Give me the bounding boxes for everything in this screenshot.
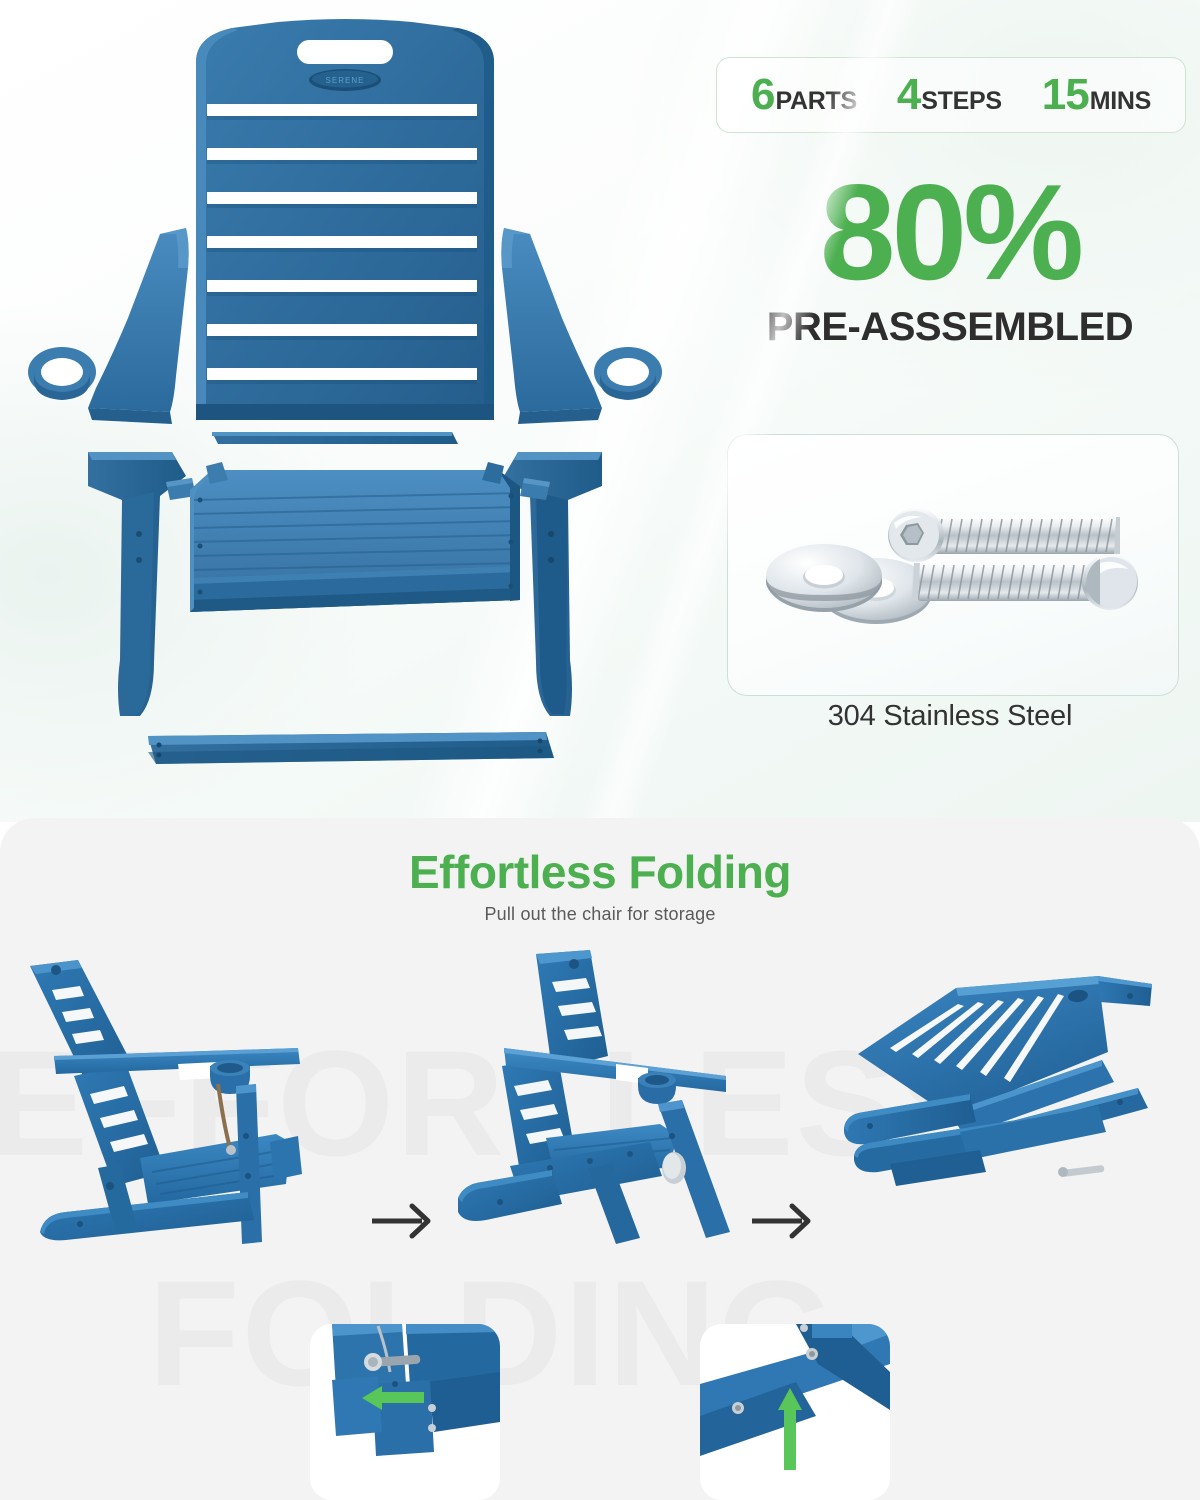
product-parts-section: SERENE <box>0 0 1200 822</box>
hardware-caption: 304 Stainless Steel <box>700 700 1200 733</box>
leg-latch-detail-svg <box>700 1324 890 1500</box>
folding-step-chair-mid-folding <box>440 936 770 1266</box>
stats-badge: 6 PARTS 4 STEPS 15 MINS <box>716 57 1186 133</box>
arrow-right-icon <box>748 1198 822 1244</box>
folding-demo-section: EFFORTLESS FOLDING Effortless Folding Pu… <box>0 818 1200 1500</box>
part-front-cross-brace <box>148 732 554 764</box>
stat-parts: 6 PARTS <box>751 73 857 117</box>
bolt-top <box>888 508 1120 562</box>
hardware-illustration <box>728 435 1179 696</box>
folding-title: Effortless Folding <box>0 845 1200 899</box>
stat-mins: 15 MINS <box>1042 73 1151 117</box>
stat-parts-unit: PARTS <box>775 89 856 114</box>
part-back-cross-brace <box>212 432 458 444</box>
part-seat-assembly <box>190 462 520 612</box>
detail-inset-hinge-pin <box>310 1324 500 1500</box>
pre-assembled-label: PRE-ASSSEMBLED <box>700 305 1200 350</box>
stat-steps-number: 4 <box>897 73 920 117</box>
folding-steps <box>0 936 1200 1266</box>
pre-assembled-block: 80% PRE-ASSSEMBLED <box>700 168 1200 350</box>
part-chair-back-panel: SERENE <box>196 19 494 420</box>
chair-mid-folding-svg <box>440 936 770 1266</box>
bolt-bottom <box>912 554 1138 610</box>
svg-text:SERENE: SERENE <box>326 76 365 85</box>
pre-assembled-percent: 80% <box>700 168 1200 297</box>
folding-step-chair-upright <box>18 936 348 1266</box>
stat-steps-unit: STEPS <box>921 89 1001 114</box>
detail-inset-leg-latch <box>700 1324 890 1500</box>
chair-upright-svg <box>18 936 348 1266</box>
stat-steps: 4 STEPS <box>897 73 1002 117</box>
stat-mins-unit: MINS <box>1090 89 1151 114</box>
washer-front <box>766 544 882 612</box>
part-left-armrest-with-cupholder <box>28 228 189 424</box>
folding-subtitle: Pull out the chair for storage <box>0 904 1200 925</box>
part-right-armrest-with-cupholder <box>501 228 662 424</box>
chair-folded-svg <box>830 936 1170 1266</box>
hinge-pin-detail-svg <box>310 1324 500 1500</box>
stat-mins-number: 15 <box>1042 73 1089 117</box>
step-arrow-1 <box>368 1198 442 1244</box>
exploded-chair-illustration: SERENE <box>0 0 690 822</box>
folding-step-chair-fully-folded <box>830 936 1170 1266</box>
exploded-chair-svg: SERENE <box>0 0 690 822</box>
step-arrow-2 <box>748 1198 822 1244</box>
stat-parts-number: 6 <box>751 73 774 117</box>
hardware-card <box>727 434 1179 696</box>
product-highlights-column: 6 PARTS 4 STEPS 15 MINS 80% PRE-ASSSEMBL… <box>700 0 1200 822</box>
arrow-right-icon <box>368 1198 442 1244</box>
